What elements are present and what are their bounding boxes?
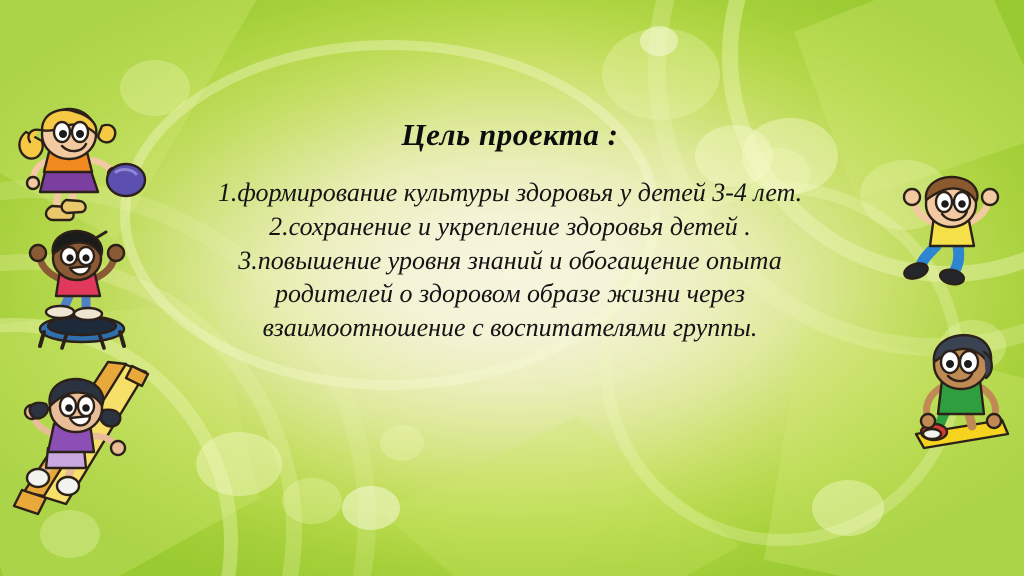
bokeh-circle-12 [640, 26, 678, 56]
bokeh-circle-6 [282, 478, 342, 524]
presentation-slide: Цель проекта : 1.формирование культуры з… [0, 0, 1024, 576]
bokeh-circle-14 [40, 510, 100, 558]
illustration-girl-with-ball [14, 110, 154, 235]
illustration-boy-on-trampoline [20, 232, 138, 350]
bokeh-circle-11 [120, 60, 190, 116]
bokeh-circle-7 [342, 486, 400, 530]
body-line-3: 3.повышение уровня знаний и обогащение о… [160, 244, 860, 278]
bokeh-circle-9 [812, 480, 884, 536]
body-line-5: взаимоотношение с воспитателями группы. [160, 311, 860, 345]
body-line-4: родителей о здоровом образе жизни через [160, 277, 860, 311]
page-title: Цель проекта : [160, 118, 860, 152]
slide-text-block: Цель проекта : 1.формирование культуры з… [160, 118, 860, 345]
slide-body: 1.формирование культуры здоровья у детей… [160, 176, 860, 345]
bokeh-circle-8 [380, 425, 424, 461]
bokeh-circle-5 [196, 432, 282, 496]
illustration-boy-on-board [906, 334, 1018, 458]
body-line-1: 1.формирование культуры здоровья у детей… [160, 176, 860, 210]
illustration-girl-on-slide [12, 356, 157, 516]
body-line-2: 2.сохранение и укрепление здоровья детей… [160, 210, 860, 244]
illustration-boy-jumping [896, 178, 1008, 294]
